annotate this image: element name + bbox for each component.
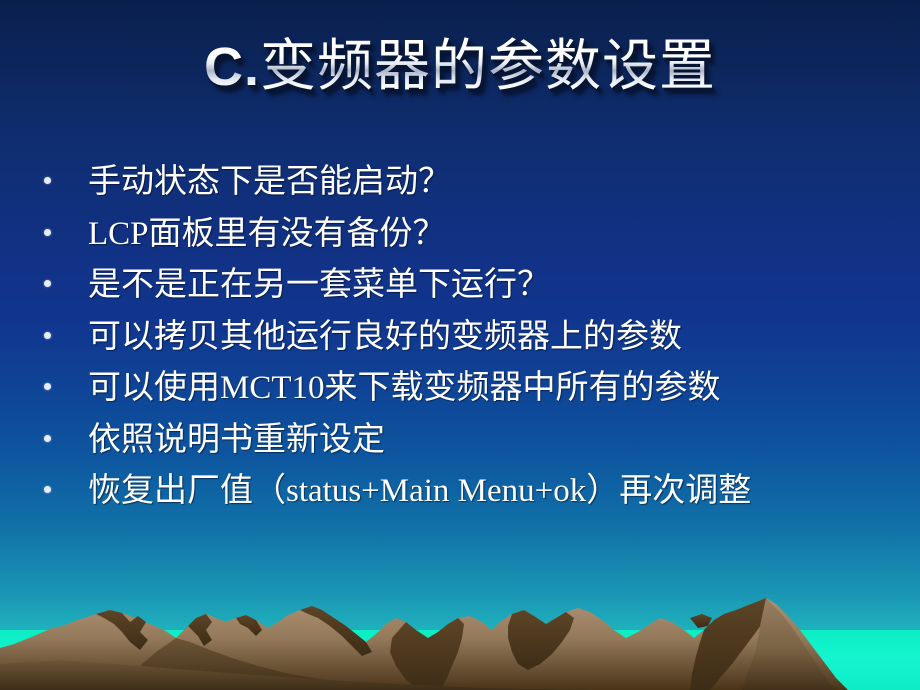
bullet-dot-icon (44, 486, 66, 493)
list-item: LCP面板里有没有备份？ (44, 212, 904, 264)
bullet-text: 手动状态下是否能启动？ (66, 160, 451, 204)
presentation-slide: C.变频器的参数设置 手动状态下是否能启动？ LCP面板里有没有备份？ 是不是正… (0, 0, 920, 690)
list-item: 可以拷贝其他运行良好的变频器上的参数 (44, 315, 904, 367)
bullet-text: 依照说明书重新设定 (66, 418, 385, 462)
list-item: 依照说明书重新设定 (44, 418, 904, 470)
bullet-text: 恢复出厂值（status+Main Menu+ok）再次调整 (66, 469, 751, 513)
bullet-dot-icon (44, 332, 66, 339)
bullet-text: LCP面板里有没有备份？ (66, 212, 446, 256)
list-item: 手动状态下是否能启动？ (44, 160, 904, 212)
bullet-text: 是不是正在另一套菜单下运行？ (66, 263, 550, 307)
mountain-range-graphic (0, 560, 920, 690)
bullet-dot-icon (44, 229, 66, 236)
list-item: 可以使用MCT10来下载变频器中所有的参数 (44, 366, 904, 418)
list-item: 恢复出厂值（status+Main Menu+ok）再次调整 (44, 469, 904, 521)
bullet-text: 可以拷贝其他运行良好的变频器上的参数 (66, 315, 682, 359)
bullet-text: 可以使用MCT10来下载变频器中所有的参数 (66, 366, 721, 410)
bullet-dot-icon (44, 383, 66, 390)
bullet-dot-icon (44, 435, 66, 442)
bullet-list: 手动状态下是否能启动？ LCP面板里有没有备份？ 是不是正在另一套菜单下运行？ … (44, 160, 904, 521)
bullet-dot-icon (44, 280, 66, 287)
bullet-dot-icon (44, 177, 66, 184)
list-item: 是不是正在另一套菜单下运行？ (44, 263, 904, 315)
